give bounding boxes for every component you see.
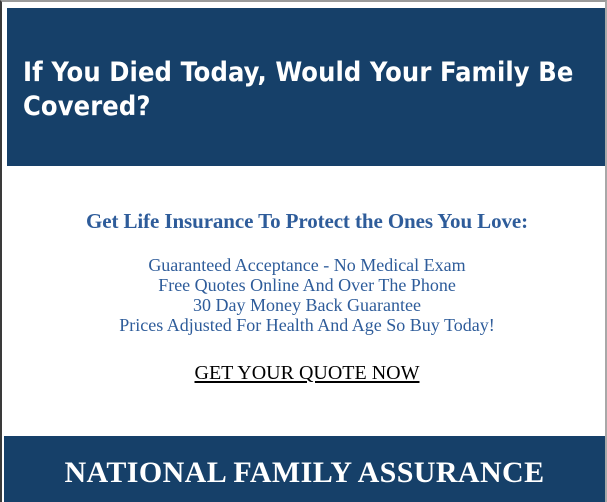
get-quote-link[interactable]: GET YOUR QUOTE NOW bbox=[195, 362, 420, 384]
benefit-item: Prices Adjusted For Health And Age So Bu… bbox=[7, 315, 607, 335]
benefit-item: Free Quotes Online And Over The Phone bbox=[7, 275, 607, 295]
benefit-list: Guaranteed Acceptance - No Medical Exam … bbox=[7, 255, 607, 335]
footer-banner: NATIONAL FAMILY ASSURANCE bbox=[4, 436, 605, 502]
advertisement-banner[interactable]: If You Died Today, Would Your Family Be … bbox=[0, 0, 607, 502]
headline: If You Died Today, Would Your Family Be … bbox=[23, 56, 583, 124]
subheadline: Get Life Insurance To Protect the Ones Y… bbox=[7, 209, 607, 234]
benefit-item: 30 Day Money Back Guarantee bbox=[7, 295, 607, 315]
benefit-item: Guaranteed Acceptance - No Medical Exam bbox=[7, 255, 607, 275]
cta-container: GET YOUR QUOTE NOW bbox=[7, 362, 607, 385]
main-content: Get Life Insurance To Protect the Ones Y… bbox=[7, 166, 607, 436]
header-banner: If You Died Today, Would Your Family Be … bbox=[7, 8, 607, 166]
brand-name: NATIONAL FAMILY ASSURANCE bbox=[4, 456, 605, 490]
